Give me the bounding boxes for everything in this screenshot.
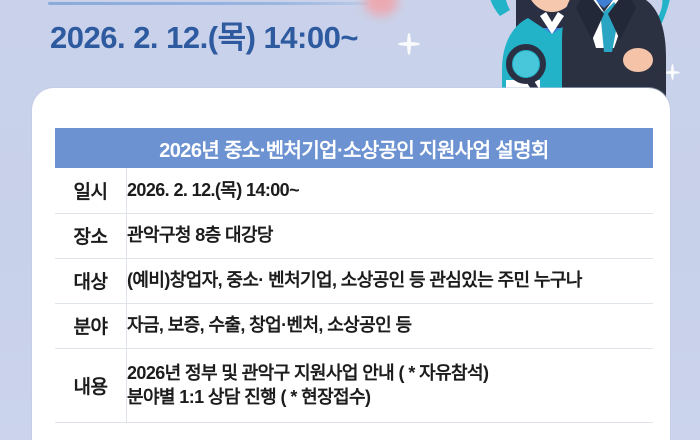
row-label-jangso: 장소 bbox=[55, 213, 127, 258]
table-row: 일시 2026. 2. 12.(목) 14:00~ bbox=[55, 168, 653, 213]
card-header: 2026년 중소·벤처기업·소상공인 지원사업 설명회 bbox=[55, 128, 653, 168]
card-header-title: 2026년 중소·벤처기업·소상공인 지원사업 설명회 bbox=[159, 134, 548, 163]
row-value-jangso: 관악구청 8층 대강당 bbox=[127, 213, 654, 258]
row-label-ilsi: 일시 bbox=[55, 168, 127, 213]
value-line: 2026. 2. 12.(목) 14:00~ bbox=[127, 178, 653, 202]
table-row: 장소 관악구청 8층 대강당 bbox=[55, 213, 653, 258]
value-line: 분야별 1:1 상담 진행 ( * 현장접수) bbox=[127, 385, 653, 409]
event-poster: 2026. 2. 12.(목) 14:00~ bbox=[0, 0, 700, 440]
row-label-daesang: 대상 bbox=[55, 258, 127, 303]
event-details-table: 일시 2026. 2. 12.(목) 14:00~ 장소 관악구청 8층 대강당… bbox=[55, 168, 653, 423]
row-value-naeyong: 2026년 정부 및 관악구 지원사업 안내 ( * 자유참석) 분야별 1:1… bbox=[127, 348, 654, 422]
table-row: 내용 2026년 정부 및 관악구 지원사업 안내 ( * 자유참석) 분야별 … bbox=[55, 348, 653, 422]
top-divider-line bbox=[48, 2, 368, 5]
row-value-ilsi: 2026. 2. 12.(목) 14:00~ bbox=[127, 168, 654, 213]
info-card: 2026년 중소·벤처기업·소상공인 지원사업 설명회 일시 2026. 2. … bbox=[32, 88, 670, 440]
headline-date: 2026. 2. 12.(목) 14:00~ bbox=[50, 12, 358, 57]
value-line: 2026년 정부 및 관악구 지원사업 안내 ( * 자유참석) bbox=[127, 361, 653, 385]
row-label-naeyong: 내용 bbox=[55, 348, 127, 422]
row-label-bunya: 분야 bbox=[55, 303, 127, 348]
row-value-bunya: 자금, 보증, 수출, 창업·벤처, 소상공인 등 bbox=[127, 303, 654, 348]
value-line: (예비)창업자, 중소· 벤처기업, 소상공인 등 관심있는 주민 누구나 bbox=[127, 268, 653, 292]
pink-circle-decoration bbox=[364, 0, 398, 16]
row-value-daesang: (예비)창업자, 중소· 벤처기업, 소상공인 등 관심있는 주민 누구나 bbox=[127, 258, 654, 303]
table-row: 대상 (예비)창업자, 중소· 벤처기업, 소상공인 등 관심있는 주민 누구나 bbox=[55, 258, 653, 303]
table-row: 분야 자금, 보증, 수출, 창업·벤처, 소상공인 등 bbox=[55, 303, 653, 348]
value-line: 자금, 보증, 수출, 창업·벤처, 소상공인 등 bbox=[127, 313, 653, 337]
value-line: 관악구청 8층 대강당 bbox=[127, 223, 653, 247]
